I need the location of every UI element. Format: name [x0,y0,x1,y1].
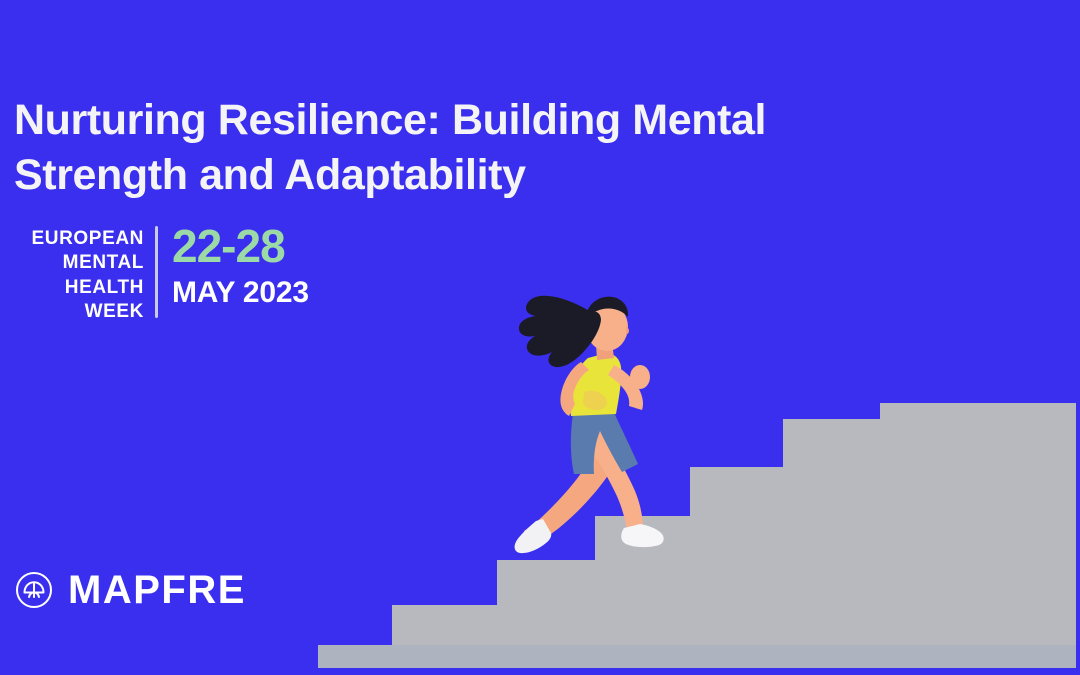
brand-logo: MAPFRE [14,570,246,610]
event-name: EUROPEAN MENTAL HEALTH WEEK [12,224,144,324]
event-name-line-2: MENTAL [12,251,144,275]
event-name-line-1: EUROPEAN [12,227,144,251]
event-name-line-4: WEEK [12,300,144,324]
event-dates: 22-28 MAY 2023 [172,224,309,324]
event-name-line-3: HEALTH [12,276,144,300]
runner-figure [515,296,664,553]
runner-back-shoe [515,519,552,553]
event-month-year: MAY 2023 [172,276,309,309]
page-title: Nurturing Resilience: Building Mental St… [14,93,914,203]
staircase-steps [318,403,1076,668]
event-date-range: 22-28 [172,224,309,269]
event-info-block: EUROPEAN MENTAL HEALTH WEEK 22-28 MAY 20… [12,224,309,324]
vertical-divider [155,226,158,318]
runner-fist [630,365,650,389]
brand-name: MAPFRE [68,570,246,610]
mapfre-circle-dome-icon [14,570,54,610]
poster-canvas: Nurturing Resilience: Building Mental St… [0,0,1080,675]
